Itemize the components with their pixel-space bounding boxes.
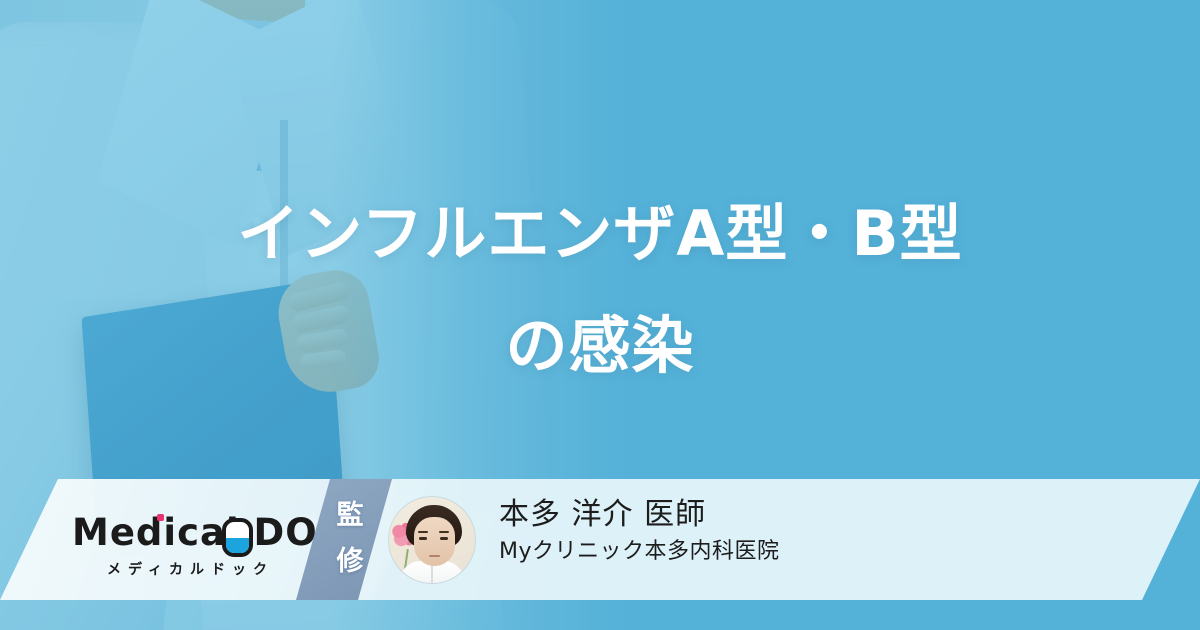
logo-kana-subtitle: メディカルドック bbox=[72, 559, 302, 579]
doctor-clinic: Myクリニック本多内科医院 bbox=[499, 535, 1139, 569]
logo-i-dot-icon bbox=[157, 514, 164, 521]
avatar-eye-right bbox=[440, 537, 448, 540]
thumbnail-card: インフルエンザA型・B型 の感染 Medical DOC メディカルドック 監修… bbox=[0, 0, 1200, 630]
avatar-eye-left bbox=[419, 537, 427, 540]
avatar-eyebrow-left bbox=[418, 531, 428, 533]
logo-wordmark-text: Medical DOC bbox=[72, 511, 346, 554]
logo-capsule-fill bbox=[226, 538, 249, 553]
avatar-coat-zipper bbox=[431, 563, 433, 583]
logo-wordmark: Medical DOC bbox=[72, 512, 302, 554]
medical-doc-logo[interactable]: Medical DOC メディカルドック bbox=[72, 512, 302, 588]
doctor-name: 本多 洋介 医師 bbox=[499, 495, 1139, 535]
avatar-eyebrow-right bbox=[439, 531, 449, 533]
logo-capsule-icon bbox=[222, 518, 253, 557]
page-title: インフルエンザA型・B型 の感染 bbox=[0, 178, 1200, 402]
doctor-credit: 本多 洋介 医師 Myクリニック本多内科医院 bbox=[499, 495, 1139, 569]
avatar-mouth bbox=[429, 555, 440, 557]
avatar-face bbox=[414, 517, 455, 566]
doctor-avatar bbox=[389, 497, 475, 583]
